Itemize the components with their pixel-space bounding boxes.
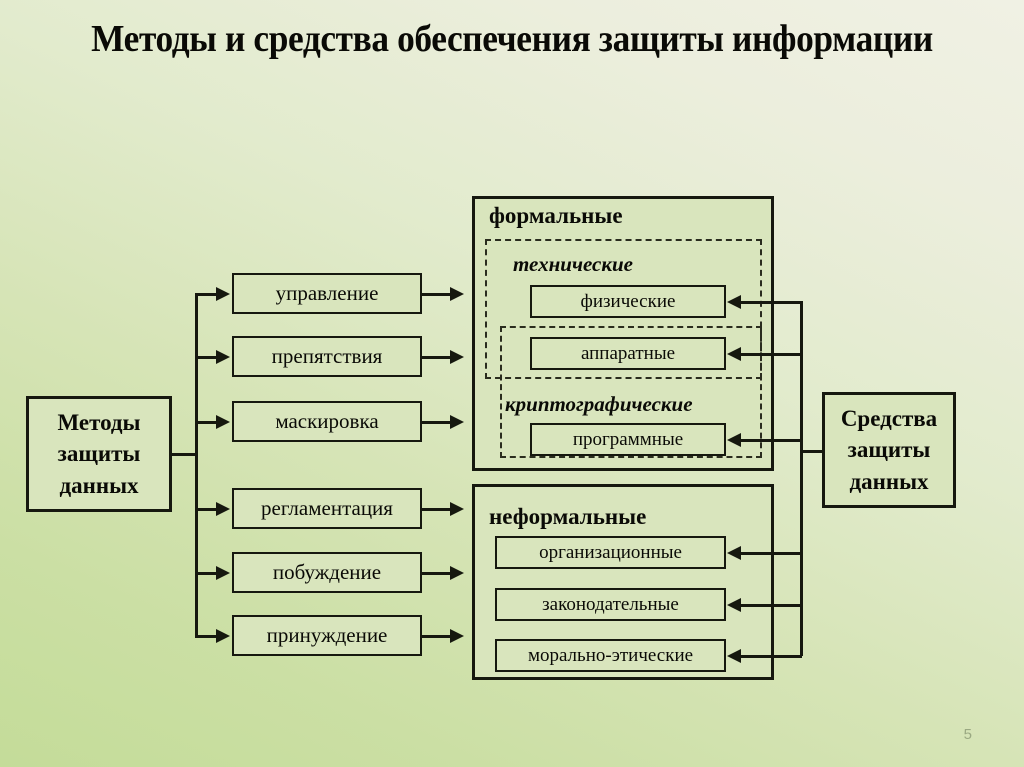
leaf-label: морально-этические <box>528 645 693 667</box>
leaf-box-zakonodatelnye[interactable]: законодательные <box>495 588 726 621</box>
leaf-label: аппаратные <box>581 343 675 365</box>
arrow-means-to-zakonodatelnye <box>727 598 741 612</box>
connector-means-to-organizacionnye <box>740 552 802 555</box>
arrow-means-to-fizicheskie <box>727 295 741 309</box>
leaf-label: законодательные <box>542 594 679 616</box>
page-number: 5 <box>964 726 972 743</box>
subgroup-title-technical: технические <box>513 252 633 277</box>
leaf-box-fizicheskie[interactable]: физические <box>530 285 726 318</box>
arrow-means-to-moralno-eticheskie <box>727 649 741 663</box>
arrow-to-prinuzhdenie <box>216 629 230 643</box>
arrow-prinuzhdenie-to-informal <box>450 629 464 643</box>
method-box-upravlenie[interactable]: управление <box>232 273 422 314</box>
arrow-to-upravlenie <box>216 287 230 301</box>
method-label: препятствия <box>272 344 383 369</box>
subgroup-title-cryptographic: криптографические <box>505 392 693 417</box>
arrow-to-pobuzhdenie <box>216 566 230 580</box>
leaf-label: физические <box>581 291 676 313</box>
method-label: маскировка <box>275 409 378 434</box>
connector-to-upravlenie <box>195 293 217 296</box>
root-box-methods[interactable]: Методы защиты данных <box>26 396 172 512</box>
method-box-reglamentaciya[interactable]: регламентация <box>232 488 422 529</box>
arrow-reglamentaciya-to-informal <box>450 502 464 516</box>
connector-root-right-stub <box>800 450 824 453</box>
leaf-label: программные <box>573 429 683 451</box>
method-label: принуждение <box>267 623 388 648</box>
arrow-means-to-organizacionnye <box>727 546 741 560</box>
connector-means-to-moralno-eticheskie <box>740 655 802 658</box>
method-label: регламентация <box>261 496 393 521</box>
arrow-to-prepyatstviya <box>216 350 230 364</box>
method-box-prepyatstviya[interactable]: препятствия <box>232 336 422 377</box>
connector-left-bus <box>195 293 198 636</box>
arrow-pobuzhdenie-to-informal <box>450 566 464 580</box>
method-label: управление <box>276 281 379 306</box>
group-title-informal: неформальные <box>489 504 646 530</box>
arrow-prepyatstviya-to-formal <box>450 350 464 364</box>
connector-maskirovka-to-formal <box>422 421 451 424</box>
arrow-upravlenie-to-formal <box>450 287 464 301</box>
connector-to-prinuzhdenie <box>195 635 217 638</box>
method-box-prinuzhdenie[interactable]: принуждение <box>232 615 422 656</box>
method-label: побуждение <box>273 560 381 585</box>
connector-to-maskirovka <box>195 421 217 424</box>
connector-prepyatstviya-to-formal <box>422 356 451 359</box>
arrow-means-to-apparatnye <box>727 347 741 361</box>
root-means-line-2: защиты <box>848 434 931 465</box>
root-methods-line-1: Методы <box>57 407 140 438</box>
connector-means-to-programmnye <box>740 439 802 442</box>
connector-reglamentaciya-to-informal <box>422 508 451 511</box>
leaf-box-organizacionnye[interactable]: организационные <box>495 536 726 569</box>
root-methods-line-2: защиты <box>58 438 141 469</box>
method-box-maskirovka[interactable]: маскировка <box>232 401 422 442</box>
arrow-means-to-programmnye <box>727 433 741 447</box>
connector-to-prepyatstviya <box>195 356 217 359</box>
connector-means-to-zakonodatelnye <box>740 604 802 607</box>
arrow-to-maskirovka <box>216 415 230 429</box>
connector-root-left-stub <box>170 453 197 456</box>
leaf-box-apparatnye[interactable]: аппаратные <box>530 337 726 370</box>
root-methods-line-3: данных <box>59 470 138 501</box>
connector-to-pobuzhdenie <box>195 572 217 575</box>
page-title: Методы и средства обеспечения защиты инф… <box>73 16 951 64</box>
root-means-line-3: данных <box>849 466 928 497</box>
arrow-to-reglamentaciya <box>216 502 230 516</box>
leaf-box-moralno-eticheskie[interactable]: морально-этические <box>495 639 726 672</box>
connector-pobuzhdenie-to-informal <box>422 572 451 575</box>
connector-to-reglamentaciya <box>195 508 217 511</box>
slide-canvas: Методы и средства обеспечения защиты инф… <box>0 0 1024 767</box>
root-box-means[interactable]: Средства защиты данных <box>822 392 956 508</box>
connector-upravlenie-to-formal <box>422 293 451 296</box>
connector-prinuzhdenie-to-informal <box>422 635 451 638</box>
connector-means-to-fizicheskie <box>740 301 802 304</box>
arrow-maskirovka-to-formal <box>450 415 464 429</box>
connector-means-to-apparatnye <box>740 353 802 356</box>
leaf-box-programmnye[interactable]: программные <box>530 423 726 456</box>
root-means-line-1: Средства <box>841 403 937 434</box>
method-box-pobuzhdenie[interactable]: побуждение <box>232 552 422 593</box>
group-title-formal: формальные <box>489 203 623 229</box>
leaf-label: организационные <box>539 542 682 564</box>
